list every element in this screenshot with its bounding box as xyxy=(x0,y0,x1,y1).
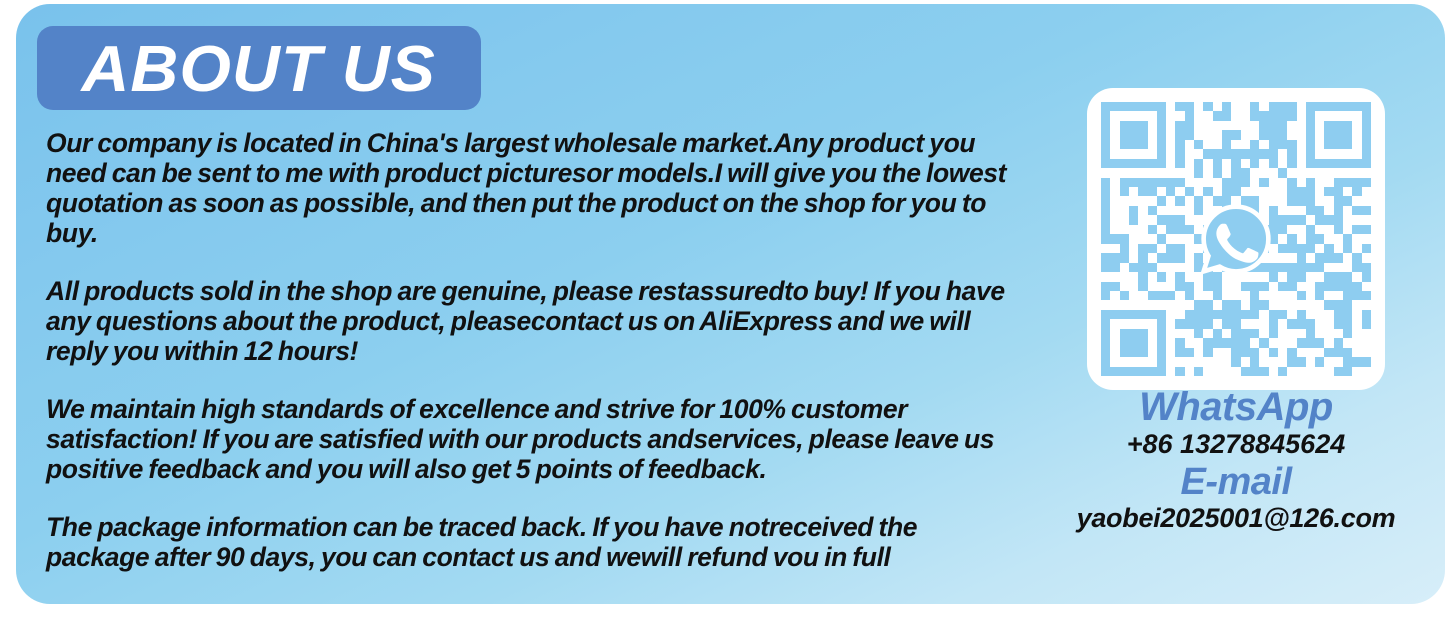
whatsapp-icon xyxy=(1199,202,1273,276)
page-title-badge: ABOUT US xyxy=(37,26,481,110)
about-us-card: ABOUT US Our company is located in China… xyxy=(16,4,1445,604)
about-paragraph-4: The package information can be traced ba… xyxy=(46,512,1021,572)
email-address[interactable]: yaobei2025001@126.com xyxy=(1046,504,1426,534)
whatsapp-label: WhatsApp xyxy=(1046,386,1426,428)
email-label: E-mail xyxy=(1046,462,1426,503)
phone-number[interactable]: +86 13278845624 xyxy=(1046,430,1426,460)
about-us-body: Our company is located in China's larges… xyxy=(46,128,1021,572)
about-paragraph-1: Our company is located in China's larges… xyxy=(46,128,1021,248)
about-paragraph-3: We maintain high standards of excellence… xyxy=(46,394,1021,484)
page-title: ABOUT US xyxy=(82,36,436,101)
about-paragraph-2: All products sold in the shop are genuin… xyxy=(46,276,1021,366)
contact-column: WhatsApp +86 13278845624 E-mail yaobei20… xyxy=(1046,88,1426,533)
whatsapp-qr-panel[interactable] xyxy=(1087,88,1385,390)
